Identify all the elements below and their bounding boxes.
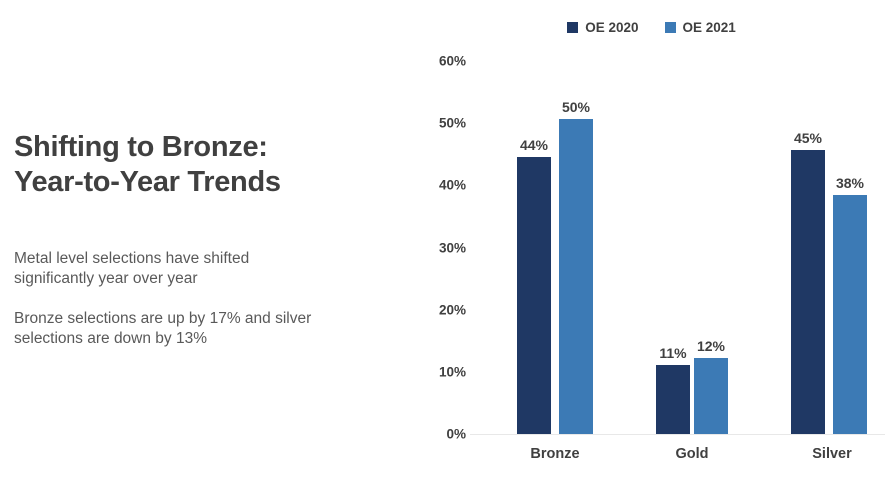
summary-paragraph-2: Bronze selections are up by 17% and silv…	[14, 309, 414, 350]
y-axis-tick: 60%	[420, 54, 466, 69]
bar-silver-oe-2021[interactable]: 38%	[833, 195, 867, 434]
y-axis-tick: 10%	[420, 365, 466, 380]
bar-bronze-oe-2021[interactable]: 50%	[559, 119, 593, 434]
bar-value-label: 12%	[697, 338, 725, 354]
bar-value-label: 50%	[562, 99, 590, 115]
x-axis-category-gold: Gold	[675, 446, 708, 462]
x-axis-line	[470, 434, 885, 435]
text-panel: Shifting to Bronze: Year-to-Year Trends …	[14, 130, 414, 350]
y-axis-tick: 40%	[420, 178, 466, 193]
bar-value-label: 44%	[520, 137, 548, 153]
y-axis-tick: 50%	[420, 116, 466, 131]
summary-paragraph-1: Metal level selections have shifted sign…	[14, 249, 414, 290]
bar-value-label: 45%	[794, 130, 822, 146]
plot-area: 44% 50% Bronze 11% 12% Gold 45% 38% Silv…	[470, 0, 885, 477]
x-axis-category-bronze: Bronze	[530, 446, 579, 462]
y-axis-tick: 20%	[420, 303, 466, 318]
bar-value-label: 11%	[659, 345, 686, 361]
page-title: Shifting to Bronze: Year-to-Year Trends	[14, 130, 414, 201]
bar-bronze-oe-2020[interactable]: 44%	[517, 157, 551, 434]
bar-value-label: 38%	[836, 175, 864, 191]
x-axis-category-silver: Silver	[812, 446, 852, 462]
bar-silver-oe-2020[interactable]: 45%	[791, 150, 825, 434]
y-axis-tick: 0%	[420, 427, 466, 442]
y-axis: 60% 50% 40% 30% 20% 10% 0%	[418, 0, 466, 477]
grouped-bar-chart: OE 2020 OE 2021 60% 50% 40% 30% 20% 10% …	[418, 0, 885, 477]
bar-gold-oe-2020[interactable]: 11%	[656, 365, 690, 434]
y-axis-tick: 30%	[420, 241, 466, 256]
bar-gold-oe-2021[interactable]: 12%	[694, 358, 728, 434]
